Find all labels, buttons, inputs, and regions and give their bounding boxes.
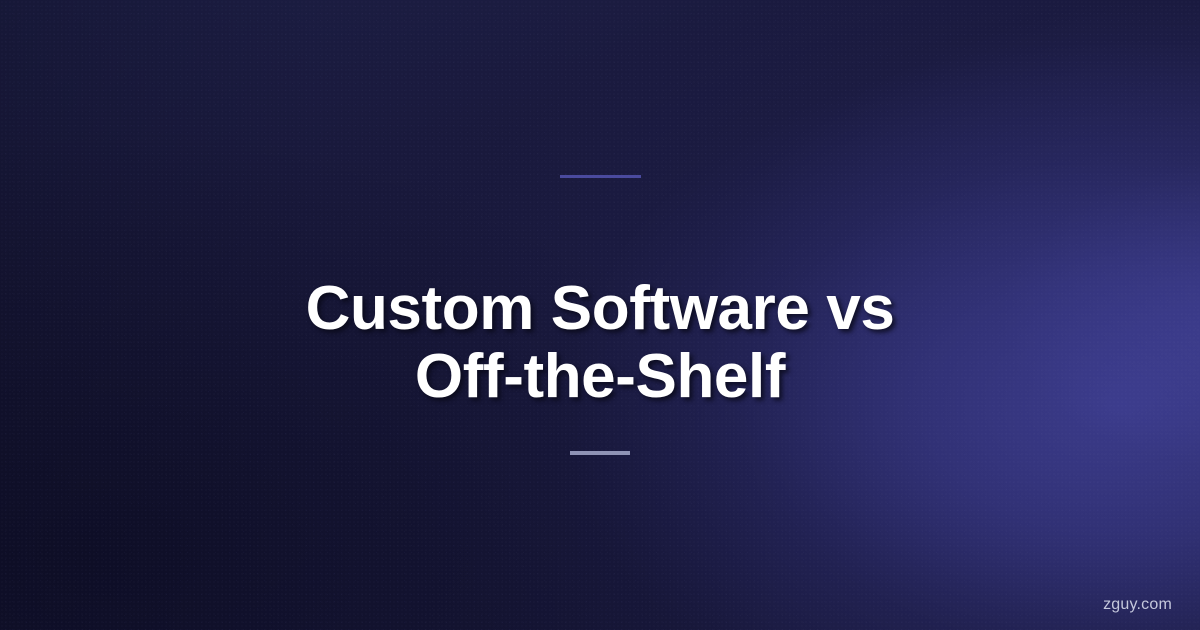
accent-rule-top [560,175,641,178]
page-title: Custom Software vs Off-the-Shelf [306,275,895,411]
card-content: Custom Software vs Off-the-Shelf [0,0,1200,630]
page-title-line-1: Custom Software vs [306,275,895,343]
site-watermark: zguy.com [1103,596,1172,614]
social-share-card: Custom Software vs Off-the-Shelf zguy.co… [0,0,1200,630]
page-title-line-2: Off-the-Shelf [306,343,895,411]
accent-rule-bottom [570,451,630,455]
